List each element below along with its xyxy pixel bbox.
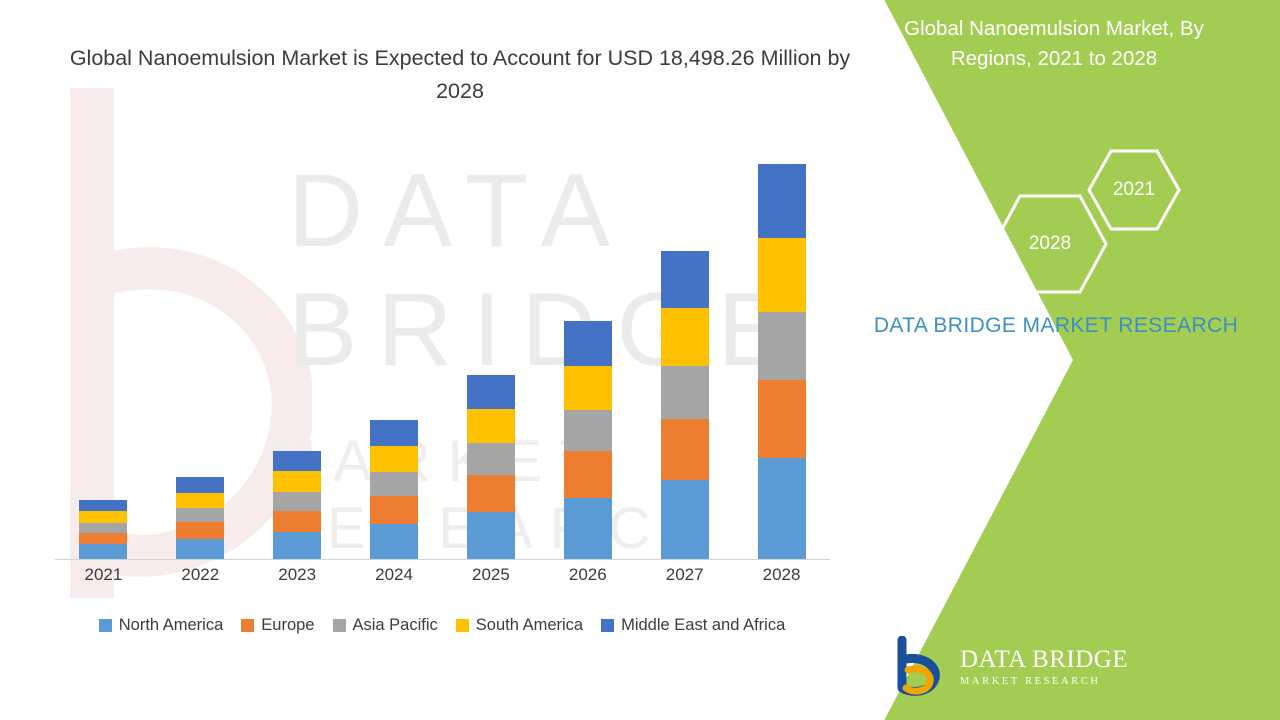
- bar-column: [370, 420, 418, 559]
- bar-segment: [758, 164, 806, 238]
- chart-title: Global Nanoemulsion Market is Expected t…: [60, 42, 860, 108]
- legend-item[interactable]: North America: [99, 616, 224, 635]
- hexagon-2021-label: 2021: [1086, 179, 1182, 201]
- legend-item[interactable]: Europe: [241, 616, 314, 635]
- brand-name: DATA BRIDGE MARKET RESEARCH: [866, 310, 1246, 342]
- bar-segment: [176, 522, 224, 538]
- bar-segment: [564, 366, 612, 410]
- legend-swatch: [601, 619, 614, 632]
- bar-segment: [273, 471, 321, 491]
- bar-segment: [564, 498, 612, 559]
- bar-segment: [661, 251, 709, 308]
- bar-column: [467, 375, 515, 559]
- bar-segment: [564, 451, 612, 499]
- chart-area: [55, 150, 830, 560]
- legend-item[interactable]: South America: [456, 616, 583, 635]
- right-panel-title: Global Nanoemulsion Market, By Regions, …: [864, 14, 1244, 74]
- x-axis-label: 2025: [467, 565, 515, 595]
- bar-segment: [273, 451, 321, 471]
- legend-swatch: [333, 619, 346, 632]
- bar-segment: [370, 524, 418, 559]
- bar-segment: [79, 500, 127, 511]
- bar-segment: [758, 380, 806, 459]
- bar-column: [176, 477, 224, 559]
- bar-segment: [370, 420, 418, 446]
- legend-swatch: [241, 619, 254, 632]
- x-axis-label: 2021: [79, 565, 127, 595]
- bar-segment: [273, 532, 321, 559]
- bar-segment: [370, 472, 418, 496]
- x-axis-labels: 20212022202320242025202620272028: [55, 565, 830, 595]
- bar-segment: [661, 366, 709, 419]
- logo-wordmark: DATA BRIDGE MARKET RESEARCH: [960, 647, 1128, 688]
- data-bridge-logo: DATA BRIDGE MARKET RESEARCH: [888, 636, 1128, 698]
- logo-mark-icon: [888, 636, 950, 698]
- bar-segment: [758, 312, 806, 380]
- bar-segment: [176, 539, 224, 559]
- slide-canvas: DATA BRIDGE MARKET RESEARCH Global Nanoe…: [0, 0, 1280, 720]
- bar-segment: [79, 544, 127, 559]
- bar-segment: [273, 511, 321, 532]
- bar-column: [758, 164, 806, 559]
- legend-item[interactable]: Asia Pacific: [333, 616, 438, 635]
- legend-label: South America: [476, 616, 583, 635]
- x-axis-label: 2024: [370, 565, 418, 595]
- bar-segment: [661, 308, 709, 365]
- bar-segment: [467, 443, 515, 475]
- bar-column: [661, 251, 709, 559]
- right-green-panel: [820, 0, 1280, 720]
- chart-legend: North AmericaEuropeAsia PacificSouth Ame…: [52, 616, 832, 635]
- legend-label: Asia Pacific: [353, 616, 438, 635]
- bar-segment: [176, 477, 224, 493]
- bar-segment: [79, 533, 127, 544]
- bar-segment: [79, 511, 127, 522]
- bar-column: [79, 500, 127, 559]
- bar-segment: [758, 458, 806, 559]
- legend-swatch: [99, 619, 112, 632]
- bar-segment: [176, 493, 224, 509]
- bar-segment: [79, 523, 127, 533]
- bar-segment: [758, 238, 806, 312]
- bar-segment: [564, 410, 612, 451]
- stacked-bar-plot: [55, 151, 830, 560]
- bar-segment: [564, 321, 612, 365]
- legend-swatch: [456, 619, 469, 632]
- bar-segment: [273, 492, 321, 511]
- bar-segment: [467, 409, 515, 443]
- legend-label: North America: [119, 616, 224, 635]
- x-axis-label: 2022: [176, 565, 224, 595]
- bar-segment: [467, 475, 515, 512]
- x-axis-label: 2028: [758, 565, 806, 595]
- legend-label: Europe: [261, 616, 314, 635]
- bar-segment: [467, 375, 515, 409]
- bar-column: [564, 321, 612, 559]
- bar-segment: [370, 496, 418, 524]
- bar-column: [273, 451, 321, 559]
- x-axis-label: 2027: [661, 565, 709, 595]
- logo-line2: MARKET RESEARCH: [960, 677, 1128, 688]
- logo-line1: DATA BRIDGE: [960, 647, 1128, 672]
- hexagon-2028-label: 2028: [990, 233, 1110, 255]
- bar-segment: [467, 512, 515, 559]
- bar-segment: [176, 508, 224, 522]
- x-axis-label: 2023: [273, 565, 321, 595]
- x-axis-label: 2026: [564, 565, 612, 595]
- bar-segment: [661, 419, 709, 480]
- legend-label: Middle East and Africa: [621, 616, 785, 635]
- bar-segment: [370, 446, 418, 472]
- hexagon-2021: 2021: [1086, 148, 1182, 232]
- legend-item[interactable]: Middle East and Africa: [601, 616, 785, 635]
- bar-segment: [661, 480, 709, 559]
